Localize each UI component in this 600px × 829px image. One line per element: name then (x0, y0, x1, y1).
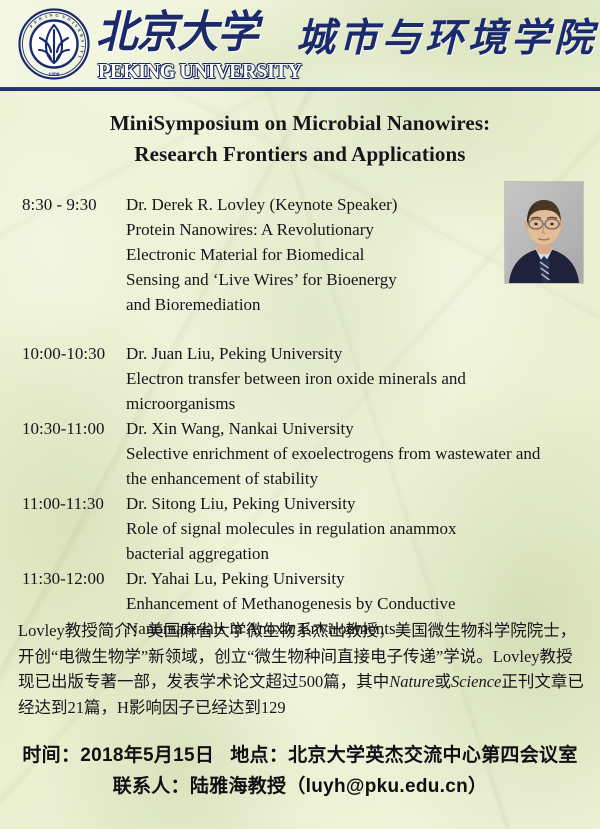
svg-text:U: U (62, 14, 67, 20)
university-name-en: PEKING UNIVERSITY (98, 59, 301, 84)
poster-canvas: P E K I N G U N I V E R S I T Y 1 (0, 0, 600, 829)
session-talk-title: Role of signal molecules in regulation a… (126, 516, 492, 566)
session-details: Dr. Xin Wang, Nankai University Selectiv… (126, 416, 582, 491)
svg-text:Y: Y (77, 54, 83, 59)
speaker-biography: Lovley教授简介：美国麻省大学微生物系杰出教授，美国微生物科学院院士，开创“… (18, 618, 584, 720)
header-divider-rule (0, 87, 600, 91)
svg-text:V: V (74, 23, 80, 29)
footer-time-place-line: 时间：2018年5月15日地点：北京大学英杰交流中心第四会议室 (0, 740, 600, 771)
session-speaker: Dr. Derek R. Lovley (Keynote Speaker) (126, 192, 412, 217)
session-talk-title: Protein Nanowires: A Revolutionary Elect… (126, 217, 412, 317)
session-speaker: Dr. Sitong Liu, Peking University (126, 491, 492, 516)
session-time: 11:30-12:00 (22, 566, 126, 591)
svg-text:S: S (80, 40, 85, 44)
college-name-cn: 城市与环境学院 (296, 16, 597, 62)
session-details: Dr. Juan Liu, Peking University Electron… (126, 341, 582, 416)
session-speaker: Dr. Juan Liu, Peking University (126, 341, 502, 366)
event-footer: 时间：2018年5月15日地点：北京大学英杰交流中心第四会议室 联系人：陆雅海教… (0, 740, 600, 802)
session-speaker: Dr. Xin Wang, Nankai University (126, 416, 554, 441)
peking-university-seal-icon: P E K I N G U N I V E R S I T Y 1 (18, 8, 90, 80)
schedule-list: 8:30 - 9:30 Dr. Derek R. Lovley (Keynote… (22, 192, 582, 641)
keynote-speaker-photo (505, 182, 583, 283)
contact-value: 陆雅海教授（luyh@pku.edu.cn） (190, 776, 487, 797)
svg-text:E: E (33, 19, 39, 25)
svg-text:I: I (80, 45, 85, 47)
svg-text:E: E (77, 28, 83, 33)
university-name-cn: 北京大学 (96, 6, 271, 60)
place-value: 北京大学英杰交流中心第四会议室 (288, 745, 578, 766)
session-details: Dr. Sitong Liu, Peking University Role o… (126, 491, 582, 566)
svg-text:T: T (79, 49, 85, 53)
schedule-row: 8:30 - 9:30 Dr. Derek R. Lovley (Keynote… (22, 192, 582, 317)
session-time: 8:30 - 9:30 (22, 192, 126, 217)
time-label: 时间： (22, 745, 80, 766)
session-time: 11:00-11:30 (22, 491, 126, 516)
session-talk-title: Electron transfer between iron oxide min… (126, 366, 502, 416)
header-banner: P E K I N G U N I V E R S I T Y 1 (0, 0, 600, 90)
schedule-row: 10:30-11:00 Dr. Xin Wang, Nankai Univers… (22, 416, 582, 491)
session-time: 10:30-11:00 (22, 416, 126, 441)
svg-text:R: R (79, 33, 85, 38)
session-speaker: Dr. Yahai Lu, Peking University (126, 566, 544, 591)
schedule-row: 11:00-11:30 Dr. Sitong Liu, Peking Unive… (22, 491, 582, 566)
session-talk-title: Selective enrichment of exoelectrogens f… (126, 441, 554, 491)
contact-label: 联系人： (113, 776, 190, 797)
svg-text:K: K (38, 15, 44, 21)
svg-text:N: N (66, 16, 71, 22)
bio-journal-nature: Nature (389, 672, 434, 691)
svg-text:P: P (28, 23, 34, 28)
bio-journal-science: Science (451, 672, 501, 691)
title-line-2: Research Frontiers and Applications (0, 139, 600, 170)
time-value: 2018年5月15日 (80, 745, 214, 766)
session-time: 10:00-10:30 (22, 341, 126, 366)
svg-text:G: G (55, 13, 60, 18)
footer-contact-line: 联系人：陆雅海教授（luyh@pku.edu.cn） (0, 771, 600, 802)
svg-text:I: I (45, 13, 48, 18)
svg-text:N: N (49, 13, 53, 18)
poster-title: MiniSymposium on Microbial Nanowires: Re… (0, 108, 600, 170)
title-line-1: MiniSymposium on Microbial Nanowires: (0, 108, 600, 139)
schedule-row: 10:00-10:30 Dr. Juan Liu, Peking Univers… (22, 341, 582, 416)
place-label: 地点： (230, 745, 288, 766)
bio-text-conjunction: 或 (434, 672, 451, 691)
seal-year-text: 1898 (48, 72, 59, 78)
